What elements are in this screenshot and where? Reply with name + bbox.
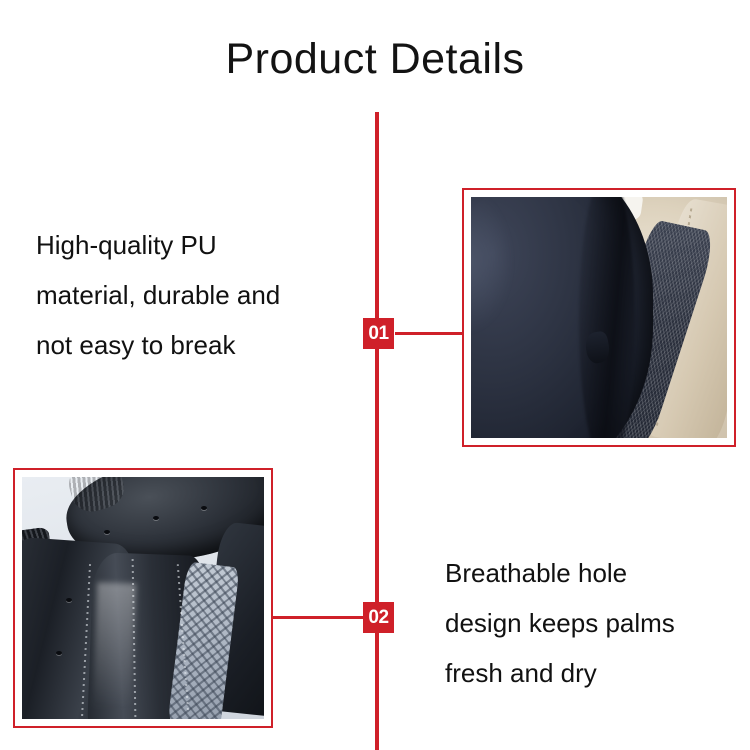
timeline-vertical-line <box>375 112 379 750</box>
connector-line-step-02 <box>273 616 363 619</box>
product-photo-knee-pad-image <box>471 197 727 438</box>
connector-line-step-01 <box>395 332 463 335</box>
breathable-hole <box>66 598 72 602</box>
product-photo-breathable-image <box>22 477 264 719</box>
pad-highlight <box>471 197 512 333</box>
feature-text-step-01: High-quality PU material, durable and no… <box>36 220 280 370</box>
product-photo-step-02 <box>13 468 273 728</box>
feature-line: fresh and dry <box>445 648 675 698</box>
step-badge-01: 01 <box>363 318 394 349</box>
feature-text-step-02: Breathable hole design keeps palms fresh… <box>445 548 675 698</box>
breathable-hole <box>153 516 159 520</box>
step-badge-02: 02 <box>363 602 394 633</box>
product-details-page: Product Details 01 02 High-quality PU ma… <box>0 0 750 750</box>
feature-line: Breathable hole <box>445 548 675 598</box>
feature-line: not easy to break <box>36 320 280 370</box>
pad-edge-shadow <box>579 197 635 438</box>
product-photo-step-01 <box>462 188 736 447</box>
feature-line: material, durable and <box>36 270 280 320</box>
feature-line: design keeps palms <box>445 598 675 648</box>
glove-gloss-highlight <box>92 583 135 710</box>
feature-line: High-quality PU <box>36 220 280 270</box>
page-title: Product Details <box>0 38 750 81</box>
